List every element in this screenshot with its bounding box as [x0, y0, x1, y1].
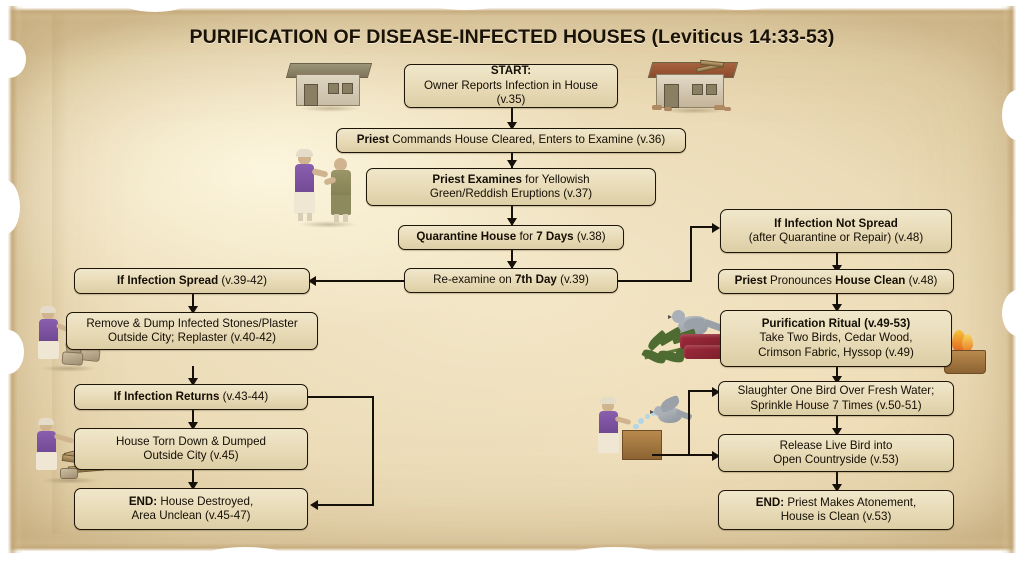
page-title: PURIFICATION OF DISEASE-INFECTED HOUSES …	[0, 26, 1024, 49]
node-house-torn-down[interactable]: House Torn Down & Dumped Outside City (v…	[74, 428, 308, 470]
infected-house-illustration	[648, 54, 740, 110]
node-purification-ritual-line3: Crimson Fabric, Hyssop (v.49)	[758, 346, 914, 360]
flowchart-canvas: PURIFICATION OF DISEASE-INFECTED HOUSES …	[0, 0, 1024, 559]
torn-edge	[200, 547, 290, 571]
node-release-live-bird-line1: Release Live Bird into	[780, 439, 893, 453]
node-priest-commands-line1: Priest Commands House Cleared, Enters to…	[357, 133, 665, 147]
node-if-infection-not-spread[interactable]: If Infection Not Spread (after Quarantin…	[720, 209, 952, 253]
node-priest-examines-line1: Priest Examines for Yellowish	[432, 173, 589, 187]
clean-house-illustration	[288, 56, 372, 108]
node-remove-stones-line1: Remove & Dump Infected Stones/Plaster	[86, 317, 297, 331]
node-end-house-destroyed-line2: Area Unclean (v.45-47)	[132, 509, 251, 523]
node-house-torn-down-line2: Outside City (v.45)	[143, 449, 238, 463]
node-slaughter-bird[interactable]: Slaughter One Bird Over Fresh Water; Spr…	[718, 381, 954, 416]
node-start-line1: START:	[491, 64, 531, 77]
node-slaughter-bird-line1: Slaughter One Bird Over Fresh Water;	[738, 384, 935, 398]
node-purification-ritual-line2: Take Two Birds, Cedar Wood,	[760, 331, 913, 345]
node-end-house-destroyed[interactable]: END: House Destroyed, Area Unclean (v.45…	[74, 488, 308, 530]
connector	[618, 280, 692, 282]
node-if-infection-not-spread-line2: (after Quarantine or Repair) (v.48)	[749, 231, 923, 245]
connector	[652, 454, 714, 456]
node-start-line2: Owner Reports Infection in House (v.35)	[411, 79, 611, 108]
node-purification-ritual-line1: Purification Ritual (v.49-53)	[762, 317, 911, 330]
node-remove-stones-line2: Outside City; Replaster (v.40-42)	[108, 331, 276, 345]
node-start[interactable]: START: Owner Reports Infection in House …	[404, 64, 618, 108]
node-priest-pronounces-clean-line1: Priest Pronounces House Clean (v.48)	[735, 274, 938, 288]
torn-edge	[560, 547, 670, 573]
connector	[688, 390, 714, 392]
priest-and-owner-illustration	[288, 148, 368, 224]
node-house-torn-down-line1: House Torn Down & Dumped	[116, 435, 266, 449]
node-quarantine[interactable]: Quarantine House for 7 Days (v.38)	[398, 225, 624, 250]
arrowhead	[310, 500, 318, 510]
node-reexamine[interactable]: Re-examine on 7th Day (v.39)	[404, 268, 618, 293]
node-priest-examines[interactable]: Priest Examines for Yellowish Green/Redd…	[366, 168, 656, 206]
node-remove-stones[interactable]: Remove & Dump Infected Stones/Plaster Ou…	[66, 312, 318, 350]
node-if-infection-spread[interactable]: If Infection Spread (v.39-42)	[74, 268, 310, 294]
node-priest-pronounces-clean[interactable]: Priest Pronounces House Clean (v.48)	[718, 269, 954, 294]
node-reexamine-line1: Re-examine on 7th Day (v.39)	[433, 273, 589, 287]
node-if-infection-not-spread-line1: If Infection Not Spread	[774, 217, 898, 230]
node-end-house-destroyed-line1: END: House Destroyed,	[129, 495, 253, 509]
connector	[690, 226, 714, 228]
node-if-infection-spread-line1: If Infection Spread (v.39-42)	[117, 274, 267, 288]
connector	[306, 396, 374, 398]
connector	[318, 504, 374, 506]
connector	[316, 280, 404, 282]
node-end-priest-atonement-line1: END: Priest Makes Atonement,	[756, 496, 916, 510]
node-if-infection-returns[interactable]: If Infection Returns (v.43-44)	[74, 384, 308, 410]
node-priest-commands[interactable]: Priest Commands House Cleared, Enters to…	[336, 128, 686, 153]
node-release-live-bird[interactable]: Release Live Bird into Open Countryside …	[718, 434, 954, 472]
arrowhead	[712, 223, 720, 233]
node-end-priest-atonement[interactable]: END: Priest Makes Atonement, House is Cl…	[718, 490, 954, 530]
connector	[372, 396, 374, 506]
node-priest-examines-line2: Green/Reddish Eruptions (v.37)	[430, 187, 592, 201]
node-quarantine-line1: Quarantine House for 7 Days (v.38)	[416, 230, 605, 244]
connector	[690, 227, 692, 282]
torn-edge	[1002, 90, 1024, 140]
arrowhead	[507, 160, 517, 168]
node-release-live-bird-line2: Open Countryside (v.53)	[773, 453, 898, 467]
node-purification-ritual[interactable]: Purification Ritual (v.49-53) Take Two B…	[720, 310, 952, 367]
node-end-priest-atonement-line2: House is Clean (v.53)	[781, 510, 892, 524]
node-if-infection-returns-line1: If Infection Returns (v.43-44)	[114, 390, 268, 404]
connector	[688, 390, 690, 456]
node-slaughter-bird-line2: Sprinkle House 7 Times (v.50-51)	[750, 399, 921, 413]
